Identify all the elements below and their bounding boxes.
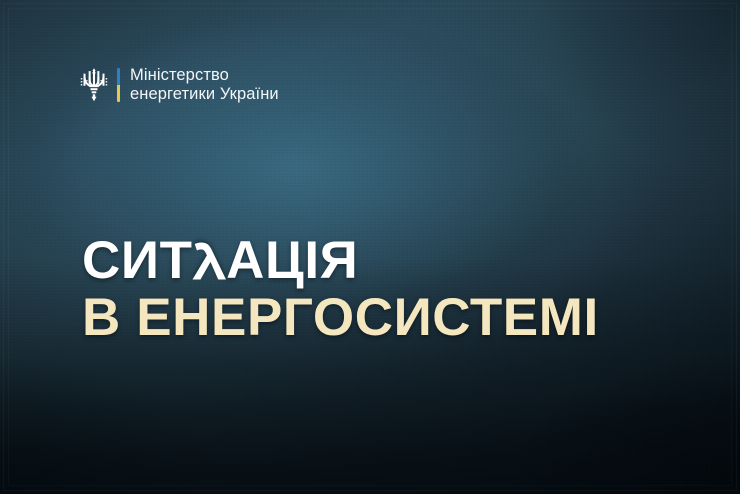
headline-stylised-u-glyph: У [193, 233, 227, 288]
ministry-name-line2: енергетики України [130, 85, 279, 104]
ministry-name-line1: Міністерство [130, 66, 229, 84]
ministry-logo: Міністерство енергетики України [80, 66, 279, 104]
ukrainian-trident-icon [80, 68, 108, 102]
ministry-name: Міністерство енергетики України [130, 66, 279, 104]
poster-canvas: Міністерство енергетики України СИТУАЦІЯ… [0, 0, 740, 494]
flag-divider-bar [117, 68, 120, 102]
headline-line-1-prefix: СИТ [82, 231, 193, 290]
headline-block: СИТУАЦІЯ В ЕНЕРГОСИСТЕМІ [82, 233, 599, 345]
headline-line-1: СИТУАЦІЯ [82, 233, 599, 288]
headline-line-2: В ЕНЕРГОСИСТЕМІ [82, 290, 599, 345]
headline-line-1-suffix: АЦІЯ [226, 231, 358, 290]
